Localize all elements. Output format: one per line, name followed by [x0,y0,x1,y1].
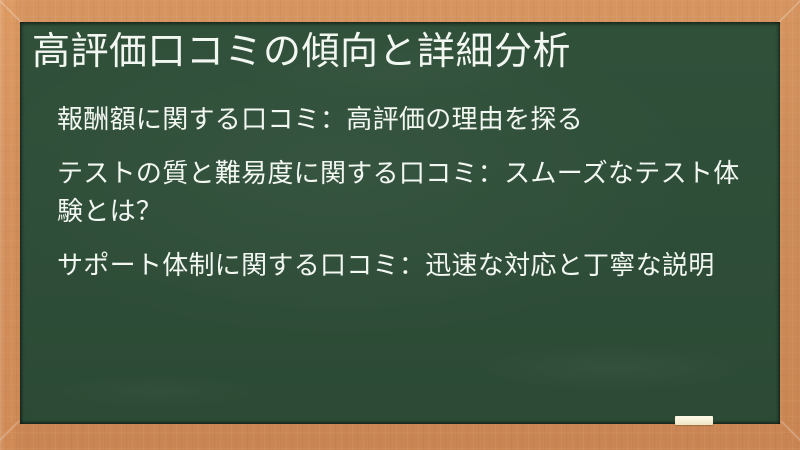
frame-miter-bottom-right [780,420,800,445]
chalkboard-slide: 高評価口コミの傾向と詳細分析 報酬額に関する口コミ：高評価の理由を探る テストの… [0,0,800,450]
chalkboard-surface: 高評価口コミの傾向と詳細分析 報酬額に関する口コミ：高評価の理由を探る テストの… [20,22,780,424]
frame-miter-bottom-left [0,420,20,445]
chalk-stick-icon [675,416,713,425]
bullet-item-3: サポート体制に関する口コミ：迅速な対応と丁寧な説明 [57,246,757,284]
bullet-item-1: 報酬額に関する口コミ：高評価の理由を探る [57,100,757,138]
slide-bullet-list: 報酬額に関する口コミ：高評価の理由を探る テストの質と難易度に関する口コミ：スム… [57,100,757,284]
bullet-item-2: テストの質と難易度に関する口コミ：スムーズなテスト体験とは？ [57,154,757,230]
slide-title: 高評価口コミの傾向と詳細分析 [32,27,752,77]
